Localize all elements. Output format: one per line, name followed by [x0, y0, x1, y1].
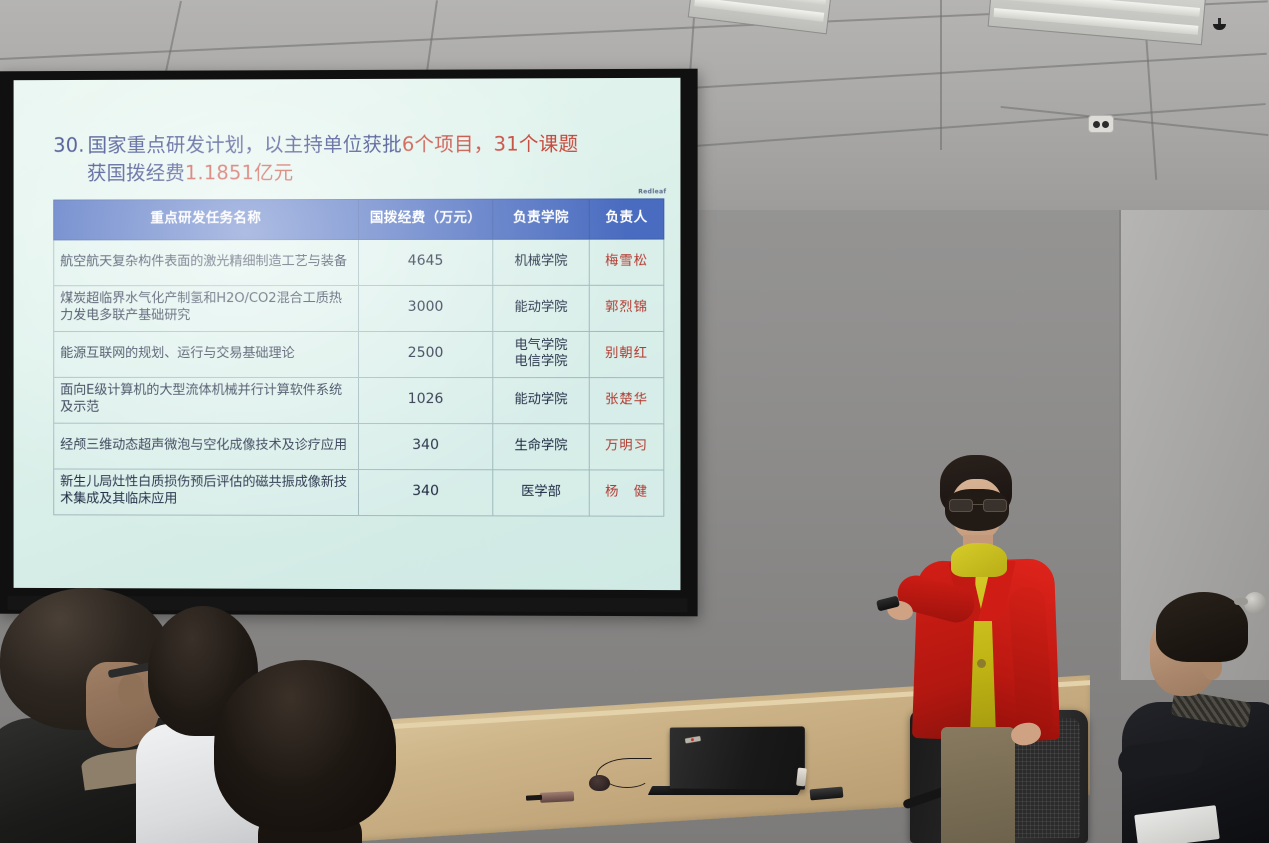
presenter-person [893, 455, 1073, 843]
audience-head [214, 660, 396, 832]
column-header-person: 负责人 [589, 198, 664, 238]
cell-amount: 4645 [358, 239, 492, 285]
table-row: 经颅三维动态超声微泡与空化成像技术及诊疗应用 340 生命学院 万明习 [54, 423, 664, 470]
cell-college-line2: 电信学院 [499, 354, 582, 370]
cell-amount: 2500 [358, 331, 492, 377]
slide-title: 30.国家重点研发计划，以主持单位获批6个项目，31个课题 获国拨经费1.185… [53, 130, 658, 188]
laptop-computer [668, 727, 804, 789]
table-row: 能源互联网的规划、运行与交易基础理论 2500 电气学院 电信学院 别朝红 [54, 331, 664, 377]
audience-member-front-center [214, 660, 404, 843]
screen-frame: 30.国家重点研发计划，以主持单位获批6个项目，31个课题 获国拨经费1.185… [0, 69, 698, 617]
cell-task: 煤炭超临界水气化产制氢和H2O/CO2混合工质热力发电多联产基础研究 [54, 285, 359, 331]
slide-title-line2: 获国拨经费1.1851亿元 [53, 158, 658, 188]
presenter-glasses-icon [949, 499, 1007, 512]
cell-person: 杨 健 [589, 469, 664, 515]
cell-person: 别朝红 [589, 331, 664, 377]
ceiling-light-fixture [688, 0, 833, 34]
cell-college: 能动学院 [493, 377, 589, 423]
cell-college: 电气学院 电信学院 [493, 331, 589, 377]
projection-screen: 30.国家重点研发计划，以主持单位获批6个项目，31个课题 获国拨经费1.185… [0, 70, 696, 615]
computer-mouse [589, 775, 610, 791]
door-handle-icon [1244, 592, 1266, 614]
audience-member-right [1128, 592, 1269, 843]
cell-college: 能动学院 [493, 285, 589, 331]
slide-title-highlight-1: 6个项目，31个课题 [402, 132, 578, 156]
cell-college: 机械学院 [493, 239, 589, 285]
ceiling-light-fixture [988, 0, 1208, 45]
screen-surface: 30.国家重点研发计划，以主持单位获批6个项目，31个课题 获国拨经费1.185… [14, 78, 681, 590]
sprinkler-head-icon [1213, 18, 1226, 35]
cell-person: 梅雪松 [589, 239, 664, 285]
table-header-row: 重点研发任务名称 国拨经费（万元） 负责学院 负责人 [54, 198, 664, 239]
ceiling-sensor-icon [1088, 115, 1114, 133]
conference-room-scene: 30.国家重点研发计划，以主持单位获批6个项目，31个课题 获国拨经费1.185… [0, 0, 1269, 843]
column-header-task: 重点研发任务名称 [54, 199, 359, 239]
table-row: 煤炭超临界水气化产制氢和H2O/CO2混合工质热力发电多联产基础研究 3000 … [54, 285, 664, 331]
cell-amount: 340 [358, 423, 492, 469]
cell-college-line1: 电气学院 [499, 338, 582, 354]
screen-brand-mark: Redleaf [638, 188, 666, 195]
slide-title-index: 30. [53, 134, 84, 157]
laptop-lid [670, 726, 805, 789]
column-header-amount: 国拨经费（万元） [358, 199, 492, 239]
ceiling-tile-line [1145, 30, 1157, 180]
mouse-cable-loop [604, 766, 650, 788]
table-row: 新生儿局灶性白质损伤预后评估的磁共振成像新技术集成及其临床应用 340 医学部 … [54, 469, 664, 516]
slide-title-text-2: 获国拨经费 [87, 162, 185, 185]
cell-amount: 340 [358, 469, 492, 515]
cell-person: 张楚华 [589, 377, 664, 423]
column-header-college: 负责学院 [493, 199, 589, 239]
cell-person: 郭烈锦 [589, 285, 664, 331]
cell-amount: 1026 [358, 377, 492, 423]
usb-device [540, 791, 574, 803]
table-row: 面向E级计算机的大型流体机械并行计算软件系统及示范 1026 能动学院 张楚华 [54, 377, 664, 423]
cell-task: 面向E级计算机的大型流体机械并行计算软件系统及示范 [54, 377, 359, 423]
cell-amount: 3000 [358, 285, 492, 331]
presenter-skirt [941, 727, 1015, 843]
slide-title-text-1: 国家重点研发计划，以主持单位获批 [88, 133, 402, 157]
desk-small-object [796, 768, 807, 787]
ceiling-tile-line [940, 0, 942, 150]
cell-task: 能源互联网的规划、运行与交易基础理论 [54, 331, 359, 377]
cell-college: 生命学院 [493, 423, 589, 469]
cell-person: 万明习 [589, 423, 664, 469]
presenter-turtleneck [951, 543, 1007, 577]
grant-projects-table: 重点研发任务名称 国拨经费（万元） 负责学院 负责人 航空航天复杂构件表面的激光… [53, 198, 664, 516]
cell-task: 航空航天复杂构件表面的激光精细制造工艺与装备 [54, 239, 359, 285]
cell-task: 新生儿局灶性白质损伤预后评估的磁共振成像新技术集成及其临床应用 [54, 469, 359, 516]
slide-title-highlight-2: 1.1851亿元 [185, 161, 294, 184]
cell-college: 医学部 [493, 469, 589, 515]
cell-task: 经颅三维动态超声微泡与空化成像技术及诊疗应用 [54, 423, 359, 469]
table-row: 航空航天复杂构件表面的激光精细制造工艺与装备 4645 机械学院 梅雪松 [54, 239, 664, 286]
presentation-slide: 30.国家重点研发计划，以主持单位获批6个项目，31个课题 获国拨经费1.185… [14, 78, 681, 590]
